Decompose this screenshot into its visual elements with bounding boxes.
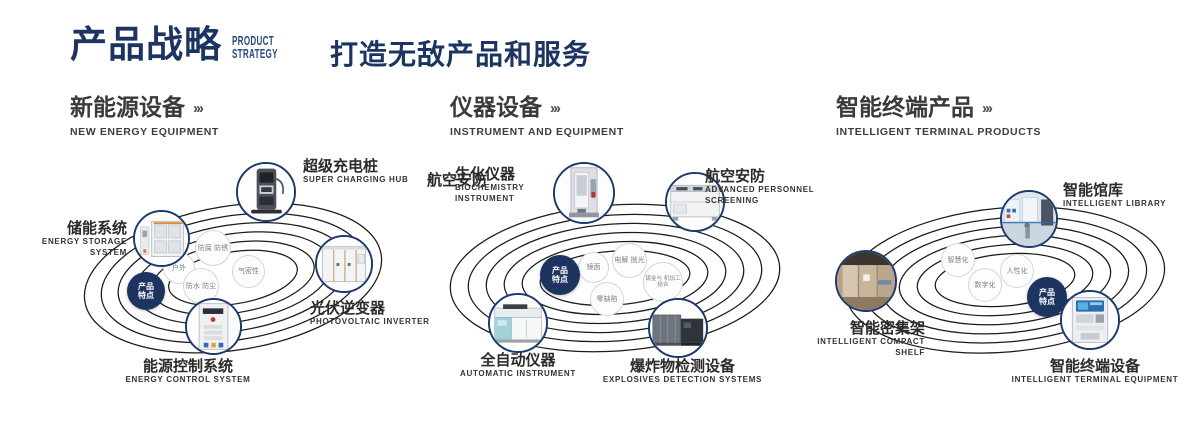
intelligent-library-icon (1002, 192, 1056, 246)
feature-bubble: 防腐 防锈 (195, 230, 231, 266)
node-super-charging-hub[interactable] (236, 162, 296, 222)
label-explosives-detector: 爆炸物检测设备 EXPLOSIVES DETECTION SYSTEMS (575, 358, 790, 386)
chevron-right-icon: ››› (982, 101, 991, 116)
label-energy-control-system: 能源控制系统 ENERGY CONTROL SYSTEM (73, 358, 303, 386)
section-title-en: INSTRUMENT AND EQUIPMENT (450, 126, 624, 138)
label-cn: 智能密集架 (755, 320, 925, 337)
chevron-right-icon: ››› (193, 101, 202, 116)
page-header: 产品战略 PRODUCT STRATEGY (70, 26, 306, 63)
core-bubble-line1: 产品 (1039, 288, 1055, 297)
label-en: INTELLIGENT COMPACT SHELF (755, 337, 925, 358)
label-energy-storage: 储能系统 ENERGY STORAGE SYSTEM (0, 220, 127, 258)
core-bubble-line2: 特点 (1039, 297, 1055, 306)
page-title-en: PRODUCT STRATEGY (232, 34, 278, 60)
compact-shelf-icon (837, 252, 895, 310)
feature-bubble: 数字化 (968, 268, 1002, 302)
feature-bubble: 电解 抛光 (612, 243, 647, 278)
node-automatic-instrument[interactable] (488, 293, 548, 353)
label-cn: 智能终端设备 (995, 358, 1195, 375)
charging-pile-icon (238, 164, 294, 220)
label-cn: 生化仪器 (455, 166, 565, 183)
cluster-instrument: 镜面 电解 抛光 钣金与 机加工结合 零缺陷 产品 特点 航空安防 (420, 160, 810, 395)
page-title-cn: 产品战略 (70, 26, 222, 63)
core-bubble: 产品 特点 (540, 255, 580, 295)
section-title-en: INTELLIGENT TERMINAL PRODUCTS (836, 126, 1041, 138)
label-en: BIOCHEMISTRY INSTRUMENT (455, 183, 565, 204)
section-title-en: NEW ENERGY EQUIPMENT (70, 126, 219, 138)
feature-bubble: 镜面 (578, 252, 609, 283)
label-en: INTELLIGENT LIBRARY (1063, 199, 1200, 209)
label-compact-shelf: 智能密集架 INTELLIGENT COMPACT SHELF (755, 320, 925, 358)
label-terminal-kiosk: 智能终端设备 INTELLIGENT TERMINAL EQUIPMENT (995, 358, 1195, 386)
label-cn: 能源控制系统 (73, 358, 303, 375)
automatic-instrument-icon (490, 295, 546, 351)
explosives-detector-icon (650, 300, 706, 356)
section-title-cn: 仪器设备 (450, 96, 542, 121)
label-cn: 智能馆库 (1063, 182, 1200, 199)
label-cn: 储能系统 (0, 220, 127, 237)
node-pv-inverter[interactable] (315, 235, 373, 293)
label-en: ENERGY CONTROL SYSTEM (73, 375, 303, 385)
label-en: EXPLOSIVES DETECTION SYSTEMS (575, 375, 790, 385)
label-cn: 爆炸物检测设备 (575, 358, 790, 375)
core-bubble-line1: 产品 (552, 266, 568, 275)
core-bubble: 产品 特点 (127, 272, 165, 310)
label-biochemistry-instrument: 生化仪器 BIOCHEMISTRY INSTRUMENT (455, 166, 565, 204)
section-title-intelligent-terminal: 智能终端产品 ››› INTELLIGENT TERMINAL PRODUCTS (836, 96, 1041, 138)
node-terminal-kiosk[interactable] (1060, 290, 1120, 350)
energy-storage-cabinet-icon (135, 212, 188, 265)
feature-bubble: 人性化 (1000, 254, 1034, 288)
chevron-right-icon: ››› (550, 101, 559, 116)
page-slogan: 打造无敌产品和服务 (330, 33, 591, 73)
node-compact-shelf[interactable] (835, 250, 897, 312)
product-strategy-infographic: 产品战略 PRODUCT STRATEGY 打造无敌产品和服务 新能源设备 ››… (0, 0, 1200, 422)
node-energy-storage[interactable] (133, 210, 190, 267)
node-explosives-detector[interactable] (648, 298, 708, 358)
section-title-cn: 智能终端产品 (836, 96, 974, 121)
feature-bubble: 智慧化 (941, 243, 975, 277)
section-title-new-energy: 新能源设备 ››› NEW ENERGY EQUIPMENT (70, 96, 219, 138)
label-en: ENERGY STORAGE SYSTEM (0, 237, 127, 258)
node-intelligent-library[interactable] (1000, 190, 1058, 248)
feature-bubble: 气密性 (232, 255, 265, 288)
core-bubble-line1: 产品 (138, 282, 154, 291)
feature-bubble: 钣金与 机加工结合 (643, 262, 683, 302)
label-intelligent-library: 智能馆库 INTELLIGENT LIBRARY (1063, 182, 1200, 210)
core-bubble-line2: 特点 (138, 291, 154, 300)
control-cabinet-icon (187, 300, 240, 353)
pv-inverter-cabinet-icon (317, 237, 371, 291)
core-bubble-line2: 特点 (552, 275, 568, 284)
cluster-new-energy: 户外 防腐 防锈 防水 防尘 气密性 产品 特点 储能系统 EN (55, 160, 425, 395)
cluster-intelligent-terminal: 智慧化 数字化 人性化 产品 特点 智能馆库 INTE (820, 160, 1195, 395)
terminal-kiosk-icon (1062, 292, 1118, 348)
node-energy-control-system[interactable] (185, 298, 242, 355)
section-title-instrument: 仪器设备 ››› INSTRUMENT AND EQUIPMENT (450, 96, 624, 138)
label-en: INTELLIGENT TERMINAL EQUIPMENT (995, 375, 1195, 385)
feature-bubble: 零缺陷 (590, 282, 624, 316)
section-title-cn: 新能源设备 (70, 96, 185, 121)
